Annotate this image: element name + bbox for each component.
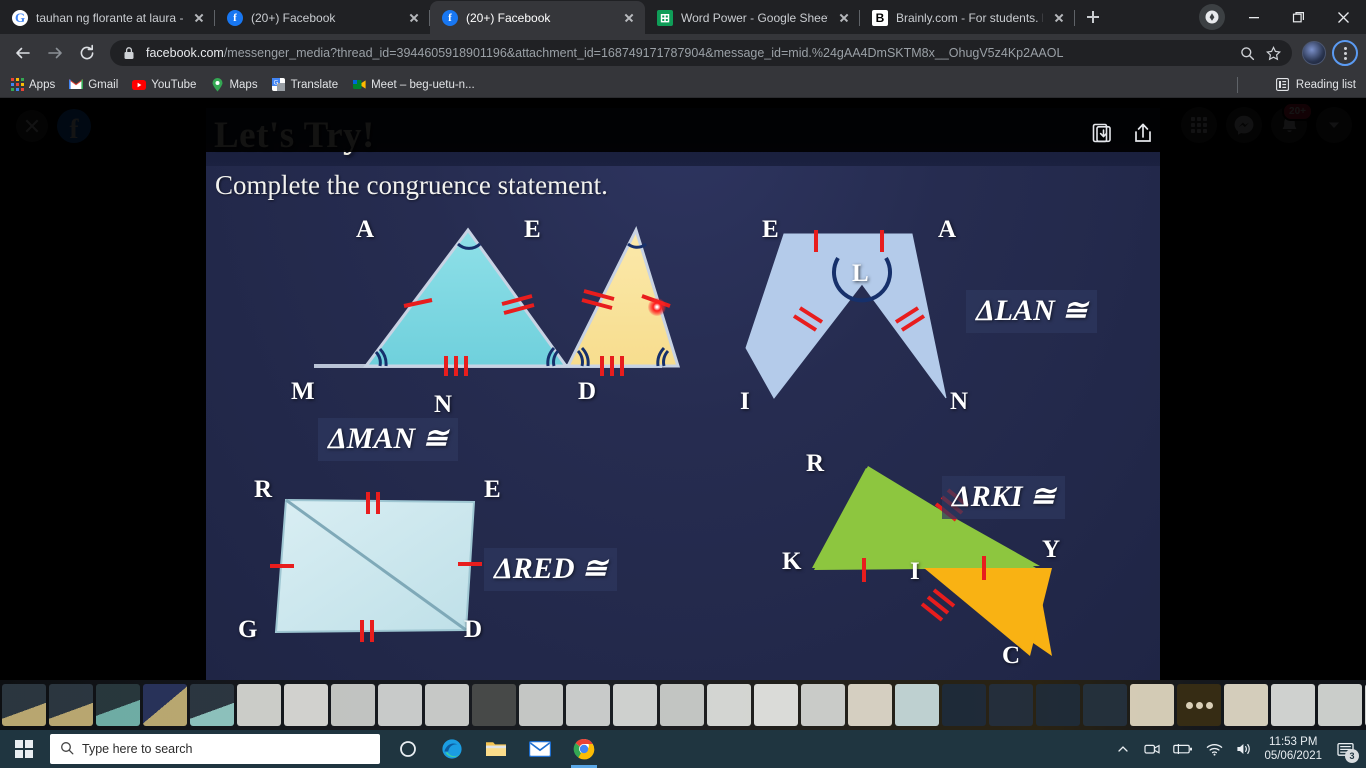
vertex-label-C: C xyxy=(1002,642,1020,670)
vertex-label-N2: N xyxy=(950,388,968,416)
action-center-button[interactable]: 3 xyxy=(1332,730,1358,768)
bookmark-star-icon[interactable] xyxy=(1264,44,1282,62)
congruence-statement-red: ΔRED ≅ xyxy=(484,548,617,591)
vertex-label-G: G xyxy=(238,616,257,644)
thumbnail-preview[interactable] xyxy=(942,684,986,726)
facebook-icon: f xyxy=(442,10,458,26)
system-tray: 11:53 PM 05/06/2021 3 xyxy=(1114,730,1366,768)
bookmark-label: Maps xyxy=(229,79,257,91)
minimize-button[interactable] xyxy=(1231,0,1276,34)
facebook-icon: f xyxy=(227,10,243,26)
url-path: /messenger_media?thread_id=3944605918901… xyxy=(224,46,1064,60)
close-icon[interactable] xyxy=(406,10,422,26)
bookmarks-bar: Apps Gmail YouTube Maps G Translate xyxy=(0,72,1366,98)
windows-logo-icon xyxy=(15,740,33,758)
window-controls xyxy=(1199,0,1366,34)
vertex-label-D2: D xyxy=(464,616,482,644)
show-hidden-icons-chevron[interactable] xyxy=(1114,730,1132,768)
thumbnail-preview-overflow[interactable] xyxy=(1177,684,1221,726)
thumbnail-preview[interactable] xyxy=(848,684,892,726)
bookmark-youtube[interactable]: YouTube xyxy=(132,78,196,92)
mail-icon[interactable] xyxy=(520,730,560,768)
browser-tab-1[interactable]: f (20+) Facebook xyxy=(215,1,430,34)
thumbnail-preview[interactable] xyxy=(1036,684,1080,726)
new-tab-button[interactable] xyxy=(1079,3,1107,31)
reload-button[interactable] xyxy=(72,38,102,68)
lock-icon xyxy=(120,44,138,62)
thumbnail-preview[interactable] xyxy=(989,684,1033,726)
vertex-label-A: A xyxy=(356,216,374,244)
thumbnail-preview[interactable] xyxy=(519,684,563,726)
save-icon xyxy=(1091,122,1113,144)
thumbnail-preview[interactable] xyxy=(1318,684,1362,726)
thumbnail-preview[interactable] xyxy=(143,684,187,726)
taskbar-clock[interactable]: 11:53 PM 05/06/2021 xyxy=(1264,735,1322,763)
volume-icon[interactable] xyxy=(1234,730,1254,768)
svg-text:G: G xyxy=(274,80,279,86)
thumbnail-preview[interactable] xyxy=(190,684,234,726)
vertex-label-A2: A xyxy=(938,216,956,244)
bookmark-translate[interactable]: G Translate xyxy=(272,78,339,92)
thumbnail-preview[interactable] xyxy=(1224,684,1268,726)
brainly-icon: B xyxy=(872,10,888,26)
close-icon[interactable] xyxy=(1051,10,1067,26)
vertex-label-E3: E xyxy=(484,476,501,504)
bookmark-label: Gmail xyxy=(88,79,118,91)
vertex-label-N: N xyxy=(434,391,452,419)
vertex-label-I: I xyxy=(740,388,750,416)
bookmark-label: Meet – beg-uetu-n... xyxy=(371,79,475,91)
tab-title: (20+) Facebook xyxy=(466,11,613,25)
figure-man-edn xyxy=(306,218,706,398)
thumbnail-preview[interactable] xyxy=(754,684,798,726)
tab-title: (20+) Facebook xyxy=(251,11,398,25)
file-explorer-icon[interactable] xyxy=(476,730,516,768)
thumbnail-preview[interactable] xyxy=(237,684,281,726)
forward-button[interactable] xyxy=(40,38,70,68)
congruence-statement-rki: ΔRKI ≅ xyxy=(942,476,1065,519)
google-translate-icon: G xyxy=(272,78,286,92)
thumbnail-preview[interactable] xyxy=(284,684,328,726)
bookmark-label: Translate xyxy=(291,79,339,91)
photo-viewport: Let's Try! Complete the congruence state… xyxy=(0,98,1366,680)
search-placeholder: Type here to search xyxy=(82,742,192,756)
slide-instruction: Complete the congruence statement. xyxy=(215,170,608,201)
tab-title: tauhan ng florante at laura - G xyxy=(36,11,183,25)
thumbnail-preview[interactable] xyxy=(96,684,140,726)
clock-time: 11:53 PM xyxy=(1264,735,1322,749)
profile-pin-icon[interactable] xyxy=(1199,4,1225,30)
thumbnail-preview[interactable] xyxy=(1271,684,1315,726)
maximize-button[interactable] xyxy=(1276,0,1321,34)
tab-title: Brainly.com - For students. By xyxy=(896,11,1043,25)
gmail-icon xyxy=(69,78,83,92)
address-bar[interactable]: facebook.com/messenger_media?thread_id=3… xyxy=(110,40,1292,66)
thumbnail-preview[interactable] xyxy=(331,684,375,726)
reading-list-icon xyxy=(1276,78,1290,92)
start-button[interactable] xyxy=(0,730,48,768)
youtube-icon xyxy=(132,78,146,92)
vertex-label-R2: R xyxy=(806,450,824,478)
clock-date: 05/06/2021 xyxy=(1264,749,1322,763)
bookmark-label: YouTube xyxy=(151,79,196,91)
close-icon[interactable] xyxy=(621,10,637,26)
reading-list-label: Reading list xyxy=(1296,79,1356,91)
vertex-label-D: D xyxy=(578,378,596,406)
back-button[interactable] xyxy=(8,38,38,68)
vertex-label-K: K xyxy=(782,548,801,576)
apps-grid-icon xyxy=(10,78,24,92)
facebook-photo-viewer: Let's Try! Complete the congruence state… xyxy=(0,98,1366,680)
search-icon xyxy=(60,741,74,758)
browser-tab-0[interactable]: G tauhan ng florante at laura - G xyxy=(0,1,215,34)
thumbnail-preview[interactable] xyxy=(801,684,845,726)
battery-icon[interactable] xyxy=(1172,730,1194,768)
close-window-button[interactable] xyxy=(1321,0,1366,34)
browser-tab-3[interactable]: ⊞ Word Power - Google Sheets xyxy=(645,1,860,34)
camera-icon[interactable] xyxy=(1142,730,1162,768)
vertex-label-R: R xyxy=(254,476,272,504)
thumbnail-preview[interactable] xyxy=(1083,684,1127,726)
tab-title: Word Power - Google Sheets xyxy=(681,11,828,25)
slide-image: Let's Try! Complete the congruence state… xyxy=(206,108,1160,680)
close-icon[interactable] xyxy=(191,10,207,26)
share-icon xyxy=(1132,122,1154,144)
maps-pin-icon xyxy=(210,78,224,92)
vertex-label-Y: Y xyxy=(1042,536,1060,564)
share-photo-button[interactable] xyxy=(1126,116,1160,150)
thumbnail-preview[interactable] xyxy=(49,684,93,726)
chrome-icon[interactable] xyxy=(564,730,604,768)
thumbnail-preview[interactable] xyxy=(425,684,469,726)
thumbnail-preview[interactable] xyxy=(472,684,516,726)
edge-icon[interactable] xyxy=(432,730,472,768)
url-text: facebook.com/messenger_media?thread_id=3… xyxy=(146,46,1230,60)
thumbnail-preview[interactable] xyxy=(1130,684,1174,726)
thumbnail-preview[interactable] xyxy=(895,684,939,726)
viewer-top-bar xyxy=(0,98,1366,152)
vertex-label-M: M xyxy=(291,378,315,406)
thumbnail-preview[interactable] xyxy=(660,684,704,726)
cortana-icon[interactable] xyxy=(388,730,428,768)
chrome-menu-button[interactable] xyxy=(1332,40,1358,66)
bookmark-gmail[interactable]: Gmail xyxy=(69,78,118,92)
google-sheets-icon: ⊞ xyxy=(657,10,673,26)
figure-lan-lei xyxy=(734,226,994,406)
bookmark-apps[interactable]: Apps xyxy=(10,78,55,92)
bookmark-meet[interactable]: Meet – beg-uetu-n... xyxy=(352,78,475,92)
vertex-label-L: L xyxy=(852,260,869,288)
thumbnail-preview[interactable] xyxy=(378,684,422,726)
browser-tab-strip: G tauhan ng florante at laura - G f (20+… xyxy=(0,0,1366,34)
thumbnail-preview[interactable] xyxy=(2,684,46,726)
close-icon[interactable] xyxy=(836,10,852,26)
thumbnail-preview[interactable] xyxy=(707,684,751,726)
url-domain: facebook.com xyxy=(146,46,224,60)
bookmark-maps[interactable]: Maps xyxy=(210,78,257,92)
search-input[interactable]: Type here to search xyxy=(50,734,380,764)
browser-toolbar: facebook.com/messenger_media?thread_id=3… xyxy=(0,34,1366,72)
action-center-badge: 3 xyxy=(1345,749,1359,763)
search-icon[interactable] xyxy=(1238,44,1256,62)
taskbar-pinned-apps xyxy=(388,730,604,768)
vertex-label-E: E xyxy=(524,216,541,244)
browser-tab-2-active[interactable]: f (20+) Facebook xyxy=(430,1,645,34)
wifi-icon[interactable] xyxy=(1204,730,1224,768)
avatar[interactable] xyxy=(1302,41,1326,65)
bookmark-label: Apps xyxy=(29,79,55,91)
save-photo-button[interactable] xyxy=(1085,116,1119,150)
congruence-statement-man: ΔMAN ≅ xyxy=(318,418,458,461)
vertex-label-I2: I xyxy=(910,558,920,586)
divider xyxy=(1237,77,1238,93)
google-meet-icon xyxy=(352,78,366,92)
thumbnail-preview[interactable] xyxy=(566,684,610,726)
browser-tab-4[interactable]: B Brainly.com - For students. By xyxy=(860,1,1075,34)
google-icon: G xyxy=(12,10,28,26)
windows-taskbar: Type here to search xyxy=(0,730,1366,768)
laser-pointer-dot xyxy=(648,298,666,316)
window-preview-strip xyxy=(0,680,1366,730)
vertex-label-E2: E xyxy=(762,216,779,244)
thumbnail-preview[interactable] xyxy=(613,684,657,726)
congruence-statement-lan: ΔLAN ≅ xyxy=(966,290,1097,333)
reading-list-button[interactable]: Reading list xyxy=(1276,78,1356,92)
